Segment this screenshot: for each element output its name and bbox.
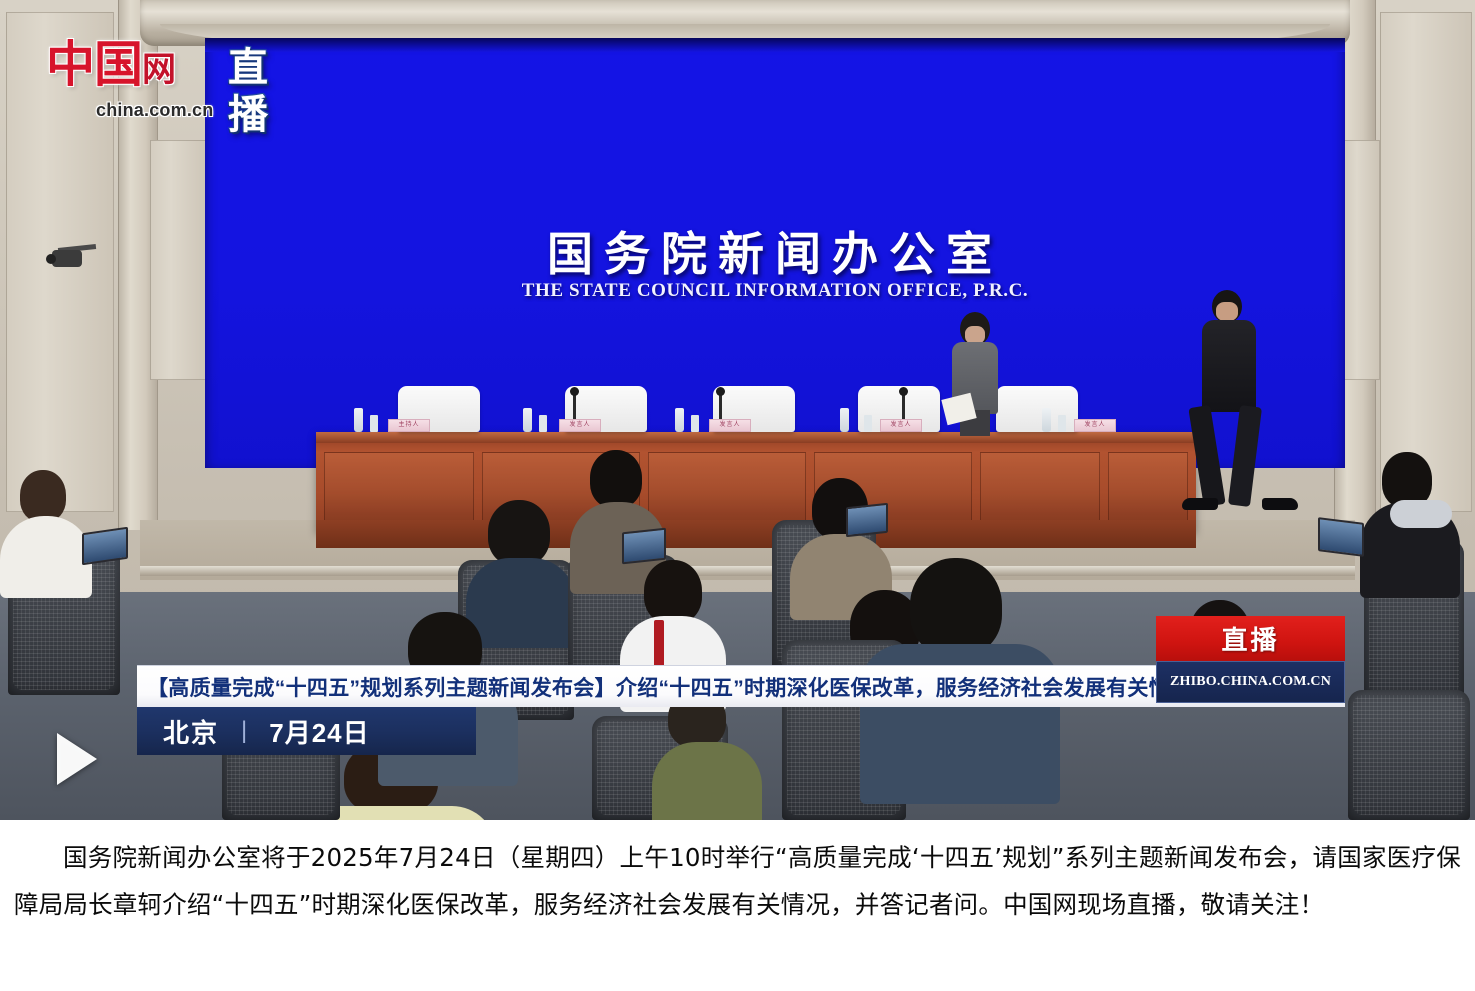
name-card-label: 发言人	[1075, 420, 1115, 431]
desk-panel	[648, 452, 806, 522]
person-suit-jacket	[1202, 320, 1256, 412]
china-com-cn-logo: 中国网 china.com.cn	[46, 34, 221, 132]
drinking-cup	[691, 415, 699, 432]
location-separator: |	[241, 717, 247, 745]
live-watermark-vertical: 直播	[228, 44, 268, 138]
name-card: 发言人	[1074, 419, 1116, 432]
wall-panel-right-inner	[1344, 140, 1380, 380]
drinking-cup	[539, 415, 547, 432]
drinking-cup	[864, 415, 872, 432]
drinking-cup	[370, 415, 378, 432]
audience-shoulders	[0, 516, 92, 598]
caption-paragraph: 国务院新闻办公室将于2025年7月24日（星期四）上午10时举行“高质量完成‘十…	[14, 834, 1461, 928]
wall-panel-right	[1380, 12, 1472, 512]
water-bottle	[840, 408, 849, 432]
location-city: 北京	[163, 713, 219, 750]
live-badge-label: 直播	[1221, 620, 1279, 657]
water-bottle	[354, 408, 363, 432]
article-caption: 国务院新闻办公室将于2025年7月24日（星期四）上午10时举行“高质量完成‘十…	[0, 820, 1475, 991]
logo-brand-net: 网	[142, 52, 175, 89]
water-bottle	[523, 408, 532, 432]
audience-laptop	[622, 528, 666, 565]
wall-panel-left-inner	[150, 140, 208, 380]
desk-panel	[324, 452, 474, 522]
logo-brand-text: 中国网	[46, 34, 221, 100]
audience-laptop	[82, 527, 128, 565]
person-shoe-front	[1262, 498, 1298, 510]
chair-mesh	[1353, 695, 1465, 815]
audience-head	[644, 560, 702, 624]
audience-laptop	[1318, 517, 1364, 557]
live-badge: 直播	[1156, 616, 1345, 661]
desk-panel	[980, 452, 1100, 522]
podium-desk-skirt	[316, 520, 1196, 548]
live-url-box: ZHIBO.CHINA.COM.CN	[1156, 661, 1345, 703]
location-date: 7月24日	[269, 713, 369, 750]
water-bottle	[1042, 408, 1051, 432]
logo-url-text: china.com.cn	[96, 100, 213, 121]
name-card: 发言人	[880, 419, 922, 432]
stage-edge	[140, 566, 1355, 576]
name-card-label: 发言人	[560, 420, 600, 431]
desk-panel	[1108, 452, 1188, 522]
audience-scarf	[1390, 500, 1452, 528]
name-card: 发言人	[709, 419, 751, 432]
security-camera-lens	[46, 254, 56, 264]
audience-shoulders	[652, 742, 762, 820]
podium-desk	[316, 432, 1196, 532]
person-face	[1216, 302, 1238, 321]
headline-text: 【高质量完成“十四五”规划系列主题新闻发布会】介绍“十四五”时期深化医保改革，服…	[137, 672, 1191, 702]
name-card: 发言人	[559, 419, 601, 432]
security-camera-icon	[52, 250, 82, 267]
lower-third-location-bar: 北京 | 7月24日	[137, 707, 476, 755]
video-player[interactable]: 国务院新闻办公室 THE STATE COUNCIL INFORMATION O…	[0, 0, 1475, 820]
person-shoe-back	[1182, 498, 1218, 510]
logo-brand-cn: 中国	[46, 37, 142, 92]
audience-laptop	[846, 503, 888, 537]
led-top-shadow	[205, 38, 1345, 52]
water-bottle	[675, 408, 684, 432]
drinking-cup	[1058, 415, 1066, 432]
play-button[interactable]	[57, 733, 97, 785]
audience-head	[910, 558, 1002, 656]
audience-head	[20, 470, 66, 522]
audience-shoulders	[466, 558, 576, 648]
name-card-label: 发言人	[881, 420, 921, 431]
audience-head	[590, 450, 642, 508]
audience-chair	[1348, 690, 1470, 820]
audience-head	[488, 500, 550, 566]
name-card-label: 主持人	[389, 420, 429, 431]
name-card-label: 发言人	[710, 420, 750, 431]
podium-desk-top	[316, 432, 1196, 443]
backdrop-title-cn: 国务院新闻办公室	[205, 218, 1345, 284]
name-card: 主持人	[388, 419, 430, 432]
live-url-text: ZHIBO.CHINA.COM.CN	[1170, 674, 1331, 690]
backdrop-title-en: THE STATE COUNCIL INFORMATION OFFICE, P.…	[205, 280, 1345, 302]
